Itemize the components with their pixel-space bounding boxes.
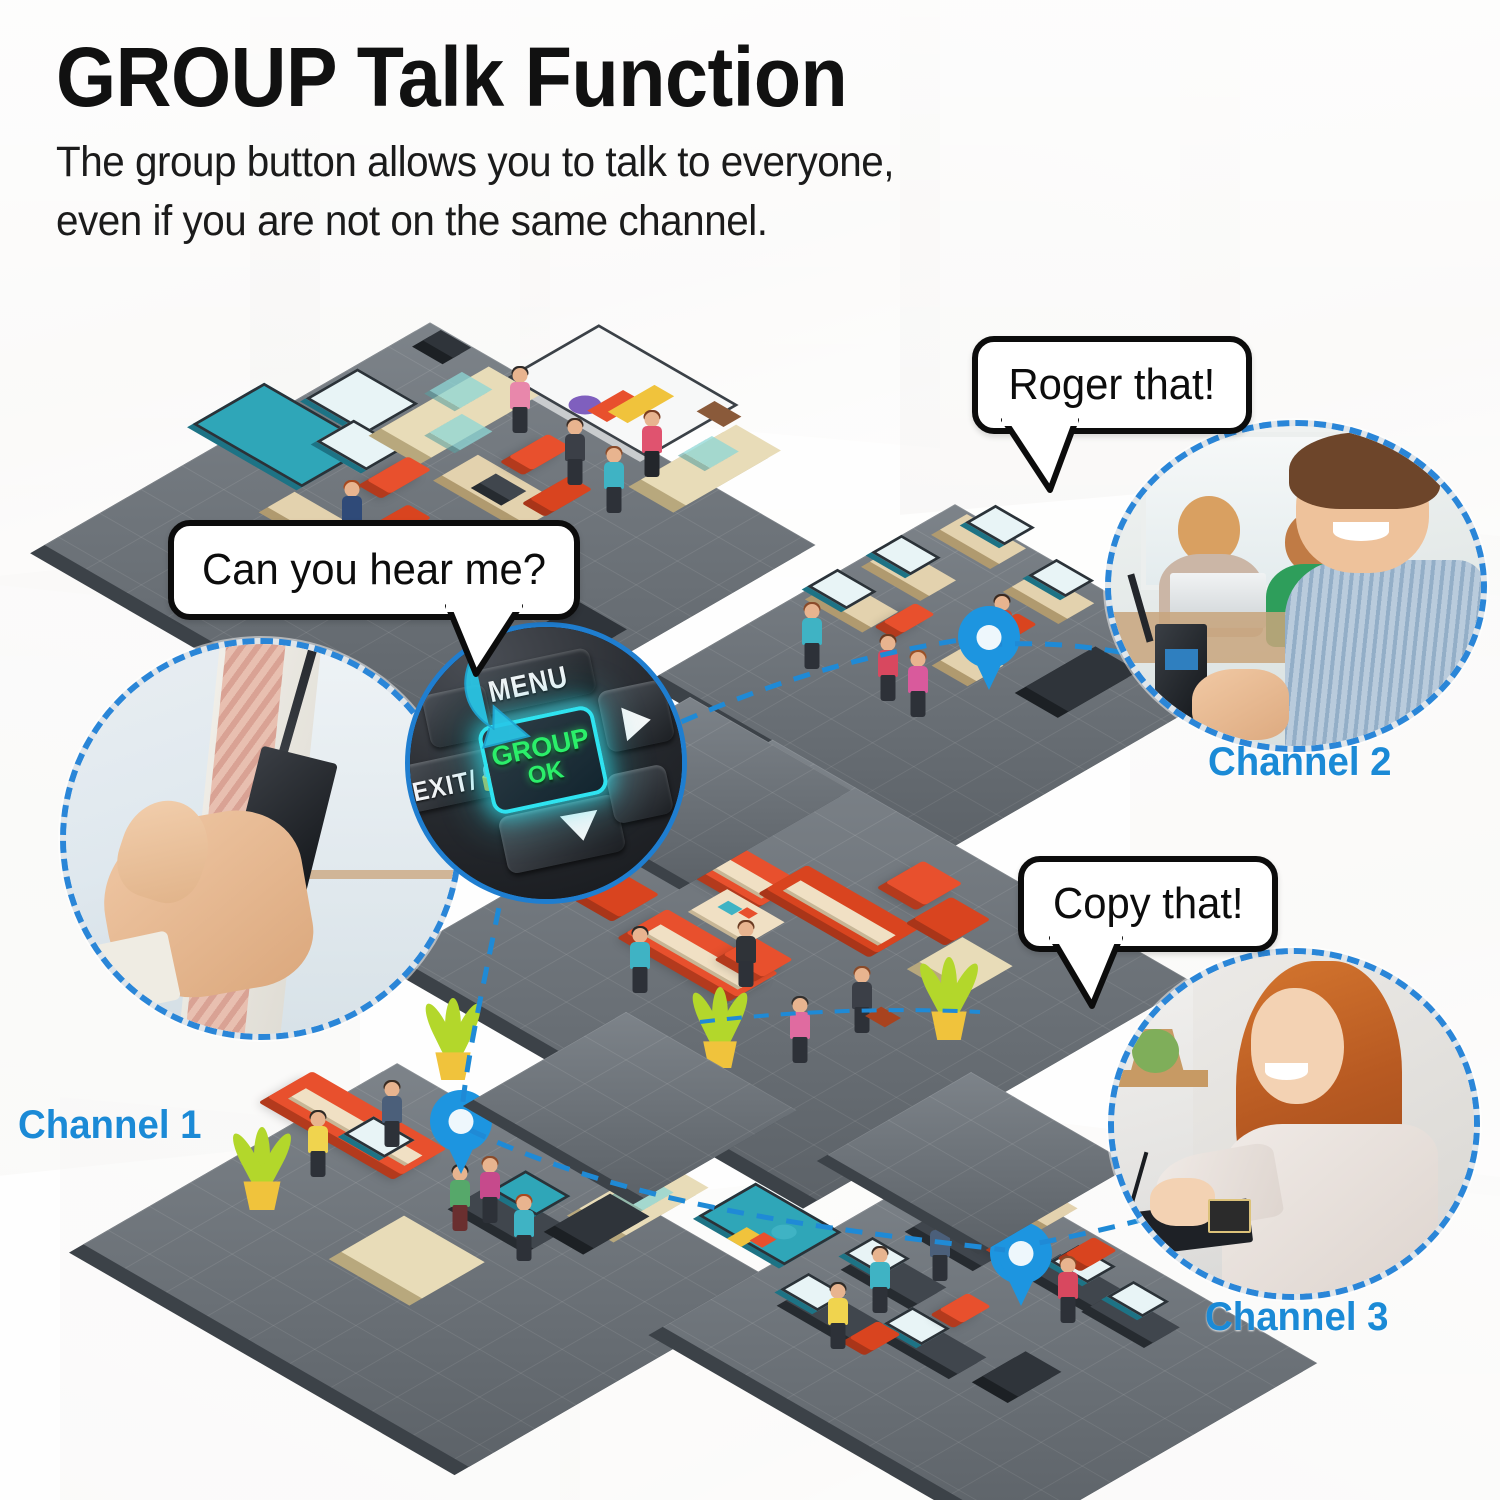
subtitle-line-1: The group button allows you to talk to e… bbox=[56, 134, 1052, 191]
infographic-canvas: GROUP Talk Function The group button all… bbox=[0, 0, 1500, 1500]
subtitle-line-2: even if you are not on the same channel. bbox=[56, 193, 1052, 250]
headline-block: GROUP Talk Function The group button all… bbox=[56, 38, 1116, 249]
bubble-roger-that-text: Roger that! bbox=[1009, 360, 1216, 410]
bubble-can-you-hear-me: Can you hear me? bbox=[168, 520, 580, 620]
channel-3-photo bbox=[1108, 948, 1480, 1300]
plant-icon bbox=[928, 978, 970, 1040]
page-title: GROUP Talk Function bbox=[56, 38, 1031, 118]
right-arrow-icon bbox=[621, 703, 653, 741]
channel-1-photo bbox=[60, 638, 462, 1040]
bubble-roger-that: Roger that! bbox=[972, 336, 1252, 434]
channel-3-label: Channel 3 bbox=[1205, 1295, 1389, 1340]
bubble-copy-that-text: Copy that! bbox=[1053, 879, 1244, 929]
channel-2-label: Channel 2 bbox=[1208, 740, 1392, 785]
bubble-can-you-hear-me-text: Can you hear me? bbox=[202, 545, 546, 595]
channel-1-label: Channel 1 bbox=[18, 1103, 202, 1148]
bubble-copy-that: Copy that! bbox=[1018, 856, 1278, 952]
plant-icon bbox=[240, 1148, 284, 1210]
channel-2-photo bbox=[1105, 420, 1487, 752]
location-pin bbox=[958, 606, 1020, 690]
